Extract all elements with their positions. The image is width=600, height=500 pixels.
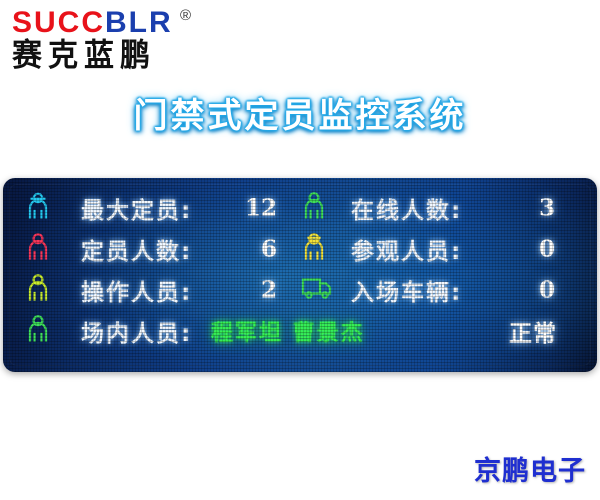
person-icon [25, 232, 51, 265]
led-label-quota-count: 定员人数: [81, 232, 192, 266]
led-label-visitor-count: 参观人员: [351, 232, 462, 266]
led-value-max-capacity: 12 [225, 194, 277, 221]
person-icon [301, 191, 327, 224]
person-icon [25, 273, 51, 306]
brand-latin-wordmark: SUCCBLR [12, 8, 173, 38]
brand-latin-blr: BLR [105, 6, 173, 39]
led-display-panel: 最大定员: 12 在线人数: 3 [3, 178, 597, 372]
brand-chinese-name: 赛克蓝鹏 [12, 38, 156, 73]
brand-logo: SUCCBLR ® 赛克蓝鹏 [8, 6, 248, 76]
page-title: 门禁式定员监控系统 [0, 88, 600, 137]
led-label-vehicle-count: 入场车辆: [351, 273, 462, 307]
registered-trademark-icon: ® [180, 8, 191, 23]
footer-company-name: 京鹏电子 [474, 449, 586, 488]
led-label-online-count: 在线人数: [351, 191, 462, 225]
led-label-onsite-staff: 场内人员: [81, 314, 192, 348]
led-row-3: 操作人员: 2 入场车辆: 0 [3, 269, 597, 310]
led-row-4-staff: 场内人员: 程军坦 曹景杰 正常 [3, 310, 597, 351]
led-label-max-capacity: 最大定员: [81, 191, 192, 225]
led-value-online-count: 3 [503, 194, 555, 221]
brand-latin-succ: SUCC [12, 6, 105, 39]
visitor-person-icon [301, 232, 327, 265]
truck-icon [301, 275, 333, 304]
led-label-operator-count: 操作人员: [81, 273, 192, 307]
led-row-1: 最大定员: 12 在线人数: 3 [3, 187, 597, 228]
led-value-visitor-count: 0 [503, 235, 555, 262]
led-value-onsite-staff-names: 程军坦 曹景杰 [211, 315, 365, 347]
status-badge: 正常 [495, 314, 557, 348]
person-icon [25, 314, 51, 347]
led-value-operator-count: 2 [225, 276, 277, 303]
led-row-2: 定员人数: 6 参观人员: 0 [3, 228, 597, 269]
person-with-helmet-icon [25, 191, 51, 224]
led-value-quota-count: 6 [225, 235, 277, 262]
led-rows-container: 最大定员: 12 在线人数: 3 [3, 187, 597, 351]
led-value-vehicle-count: 0 [503, 276, 555, 303]
